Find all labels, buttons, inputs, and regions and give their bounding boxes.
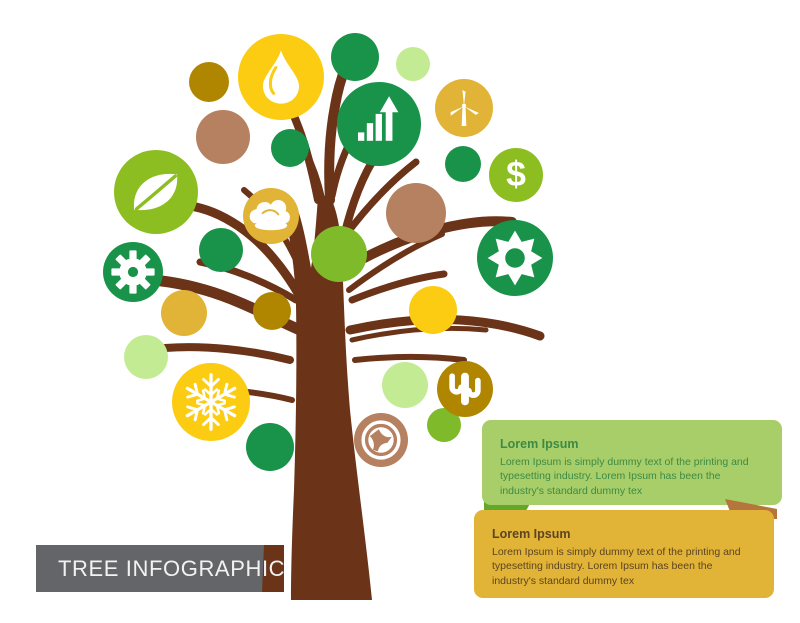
gear-icon[interactable] [103, 242, 163, 302]
svg-text:$: $ [506, 154, 526, 194]
decorative-circle-3 [396, 47, 430, 81]
wind-turbine-icon[interactable] [435, 79, 493, 137]
title-banner: TREE INFOGRAPHIC [36, 545, 284, 592]
water-drop-icon[interactable] [238, 34, 324, 120]
dollar-sign-icon[interactable]: $ [489, 148, 543, 202]
decorative-circle-2 [331, 33, 379, 81]
decorative-circle-12 [409, 286, 457, 334]
cactus-icon[interactable] [437, 361, 493, 417]
decorative-circle-1 [196, 110, 250, 164]
green-card-body: Lorem Ipsum is simply dummy text of the … [500, 455, 764, 498]
sun-icon[interactable] [477, 220, 553, 296]
infographic-canvas: $ TREE INFOGRAPHIC Lorem Ipsum Lorem Ips… [0, 0, 800, 623]
decorative-circle-10 [124, 335, 168, 379]
snowflake-icon[interactable] [172, 363, 250, 441]
yellow-card-body: Lorem Ipsum is simply dummy text of the … [492, 545, 756, 588]
decorative-circle-5 [386, 183, 446, 243]
green-card-title: Lorem Ipsum [500, 436, 764, 453]
decorative-circle-6 [311, 226, 367, 282]
yellow-callout-card[interactable]: Lorem Ipsum Lorem Ipsum is simply dummy … [474, 510, 774, 598]
leaf-icon[interactable] [114, 150, 198, 234]
decorative-circle-15 [246, 423, 294, 471]
decorative-circle-9 [161, 290, 207, 336]
globe-icon[interactable] [354, 413, 408, 467]
decorative-circle-8 [199, 228, 243, 272]
decorative-circle-0 [189, 62, 229, 102]
page-title: TREE INFOGRAPHIC [58, 556, 285, 582]
growth-chart-icon[interactable] [337, 82, 421, 166]
yellow-card-title: Lorem Ipsum [492, 526, 756, 543]
decorative-circle-4 [271, 129, 309, 167]
decorative-circle-7 [445, 146, 481, 182]
green-callout-card[interactable]: Lorem Ipsum Lorem Ipsum is simply dummy … [482, 420, 782, 505]
decorative-circle-11 [253, 292, 291, 330]
decorative-circle-13 [382, 362, 428, 408]
cloud-icon[interactable] [243, 188, 299, 244]
